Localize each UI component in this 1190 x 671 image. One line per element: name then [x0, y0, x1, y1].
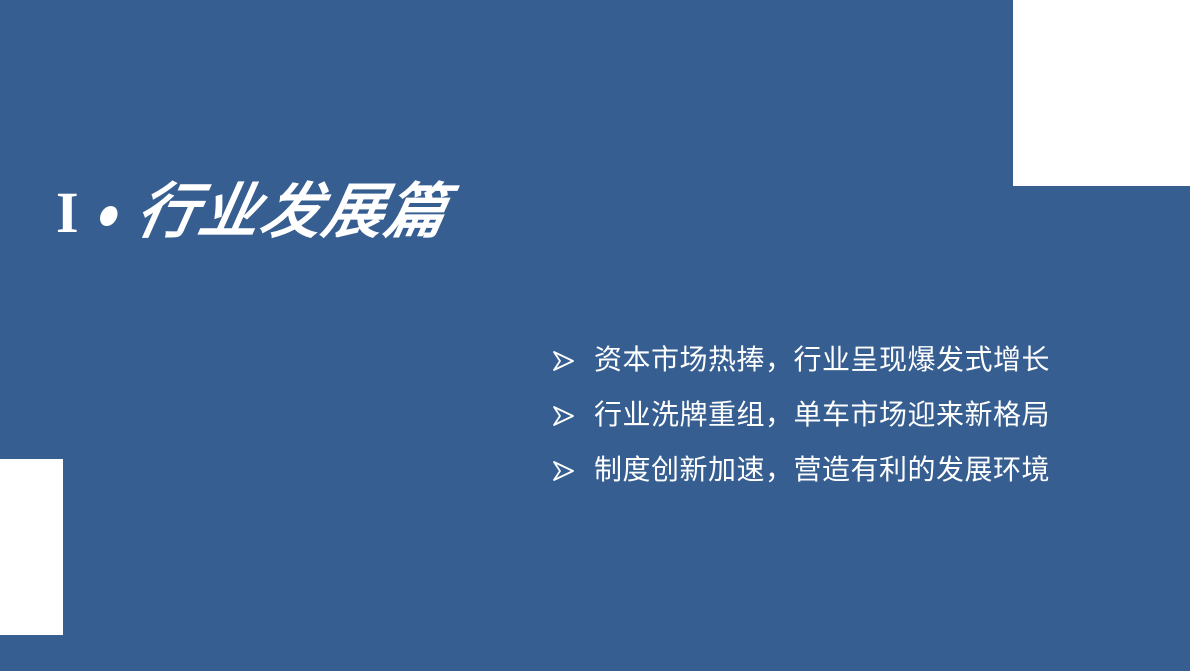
list-item: 行业洗牌重组，单车市场迎来新格局	[552, 387, 1112, 442]
list-item-label: 资本市场热捧，行业呈现爆发式增长	[594, 343, 1050, 377]
list-item: 制度创新加速，营造有利的发展环境	[552, 442, 1112, 497]
arrow-right-outline-bullet-icon	[552, 348, 594, 372]
bullet-list: 资本市场热捧，行业呈现爆发式增长 行业洗牌重组，单车市场迎来新格局 制度创新加速…	[552, 332, 1112, 497]
list-item-label: 制度创新加速，营造有利的发展环境	[594, 453, 1050, 487]
title-main-text: 行业发展篇	[132, 182, 454, 242]
arrow-right-outline-bullet-icon	[552, 403, 594, 427]
section-divider-slide: I 行业发展篇 资本市场热捧，行业呈现爆发式增长 行业洗牌重组，单车市场迎来新格…	[0, 0, 1190, 671]
page-title: I 行业发展篇	[56, 182, 442, 242]
white-block-bottom-left	[0, 459, 63, 635]
dot-separator-icon	[98, 206, 119, 226]
white-block-top-right	[1013, 0, 1190, 186]
title-numeral: I	[56, 184, 79, 242]
list-item: 资本市场热捧，行业呈现爆发式增长	[552, 332, 1112, 387]
list-item-label: 行业洗牌重组，单车市场迎来新格局	[594, 398, 1050, 432]
arrow-right-outline-bullet-icon	[552, 458, 594, 482]
